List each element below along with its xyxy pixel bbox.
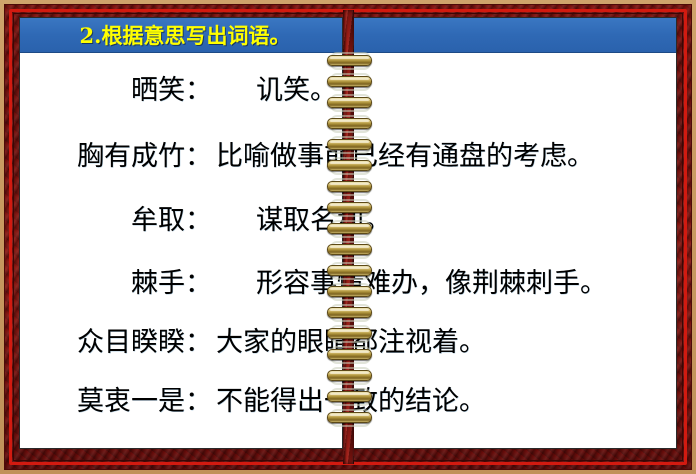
entry-definition: 大家的眼睛都注视着。 <box>353 328 486 358</box>
entry-term: 晒笑： <box>20 76 212 106</box>
spiral-ring <box>327 244 372 255</box>
entry-row: 莫衷一是：不能得出一致的结论。 <box>353 387 677 417</box>
entry-row: 晒笑：讥笑。 <box>353 76 677 106</box>
spiral-ring <box>327 181 372 192</box>
entry-definition: 比喻做事前已经有通盘的考虑。 <box>353 142 594 172</box>
entry-row: 棘手：形容事情难办，像荆棘刺手。 <box>353 269 677 299</box>
entry-definition: 不能得出一致的结论。 <box>353 387 486 417</box>
spiral-ring <box>327 160 372 171</box>
entry-definition: 谋取名利。 <box>212 206 343 236</box>
notebook-page-right: 晒笑：讥笑。 胸有成竹：比喻做事前已经有通盘的考虑。 牟取：谋取名利。 棘手：形… <box>353 17 677 449</box>
spiral-ring <box>327 412 372 423</box>
spiral-ring <box>327 370 372 381</box>
spiral-ring <box>327 223 372 234</box>
entry-row: 莫衷一是：不能得出一致的结论。 <box>20 387 343 417</box>
entry-row: 众目睽睽：大家的眼睛都注视着。 <box>20 328 343 358</box>
entry-list-right: 晒笑：讥笑。 胸有成竹：比喻做事前已经有通盘的考虑。 牟取：谋取名利。 棘手：形… <box>353 53 677 449</box>
entry-definition: 比喻做事前已经有通盘的考虑。 <box>212 142 343 172</box>
entry-list-left: 晒笑：讥笑。 胸有成竹：比喻做事前已经有通盘的考虑。 牟取：谋取名利。 棘手：形… <box>20 53 343 449</box>
entry-definition: 讥笑。 <box>212 76 337 106</box>
entry-definition: 形容事情难办，像荆棘刺手。 <box>353 269 607 299</box>
slide-canvas: 2.根据意思写出词语。 晒笑：讥笑。 胸有成竹：比喻做事前已经有通盘的考虑。 牟… <box>0 0 696 474</box>
spiral-ring <box>327 307 372 318</box>
page-title: 2.根据意思写出词语。 <box>80 20 291 50</box>
entry-row: 牟取：谋取名利。 <box>353 206 677 236</box>
spiral-ring <box>327 265 372 276</box>
entry-definition: 大家的眼睛都注视着。 <box>212 328 343 358</box>
entry-term: 众目睽睽： <box>20 328 212 358</box>
entry-row: 牟取：谋取名利。 <box>20 206 343 236</box>
entry-row: 棘手：形容事情难办，像荆棘刺手。 <box>20 269 343 299</box>
spiral-ring <box>327 391 372 402</box>
spiral-ring <box>327 118 372 129</box>
entry-term: 莫衷一是： <box>20 387 212 417</box>
entry-term: 胸有成竹： <box>20 142 212 172</box>
spiral-ring <box>327 55 372 66</box>
title-bar-left: 2.根据意思写出词语。 <box>20 18 342 53</box>
spiral-ring <box>327 349 372 360</box>
spiral-ring <box>327 139 372 150</box>
spiral-ring <box>327 328 372 339</box>
entry-term: 棘手： <box>20 269 212 299</box>
spiral-ring <box>327 202 372 213</box>
spiral-ring <box>327 97 372 108</box>
entry-row: 胸有成竹：比喻做事前已经有通盘的考虑。 <box>20 142 343 172</box>
entry-definition: 不能得出一致的结论。 <box>212 387 343 417</box>
spiral-ring <box>327 76 372 87</box>
entry-definition: 形容事情难办，像荆棘刺手。 <box>212 269 343 299</box>
entry-row: 众目睽睽：大家的眼睛都注视着。 <box>353 328 677 358</box>
notebook-page-left: 2.根据意思写出词语。 晒笑：讥笑。 胸有成竹：比喻做事前已经有通盘的考虑。 牟… <box>19 17 343 449</box>
entry-row: 晒笑：讥笑。 <box>20 76 343 106</box>
entry-term: 牟取： <box>20 206 212 236</box>
entry-row: 胸有成竹：比喻做事前已经有通盘的考虑。 <box>353 142 677 172</box>
spiral-ring <box>327 286 372 297</box>
title-bar-right <box>354 18 676 53</box>
